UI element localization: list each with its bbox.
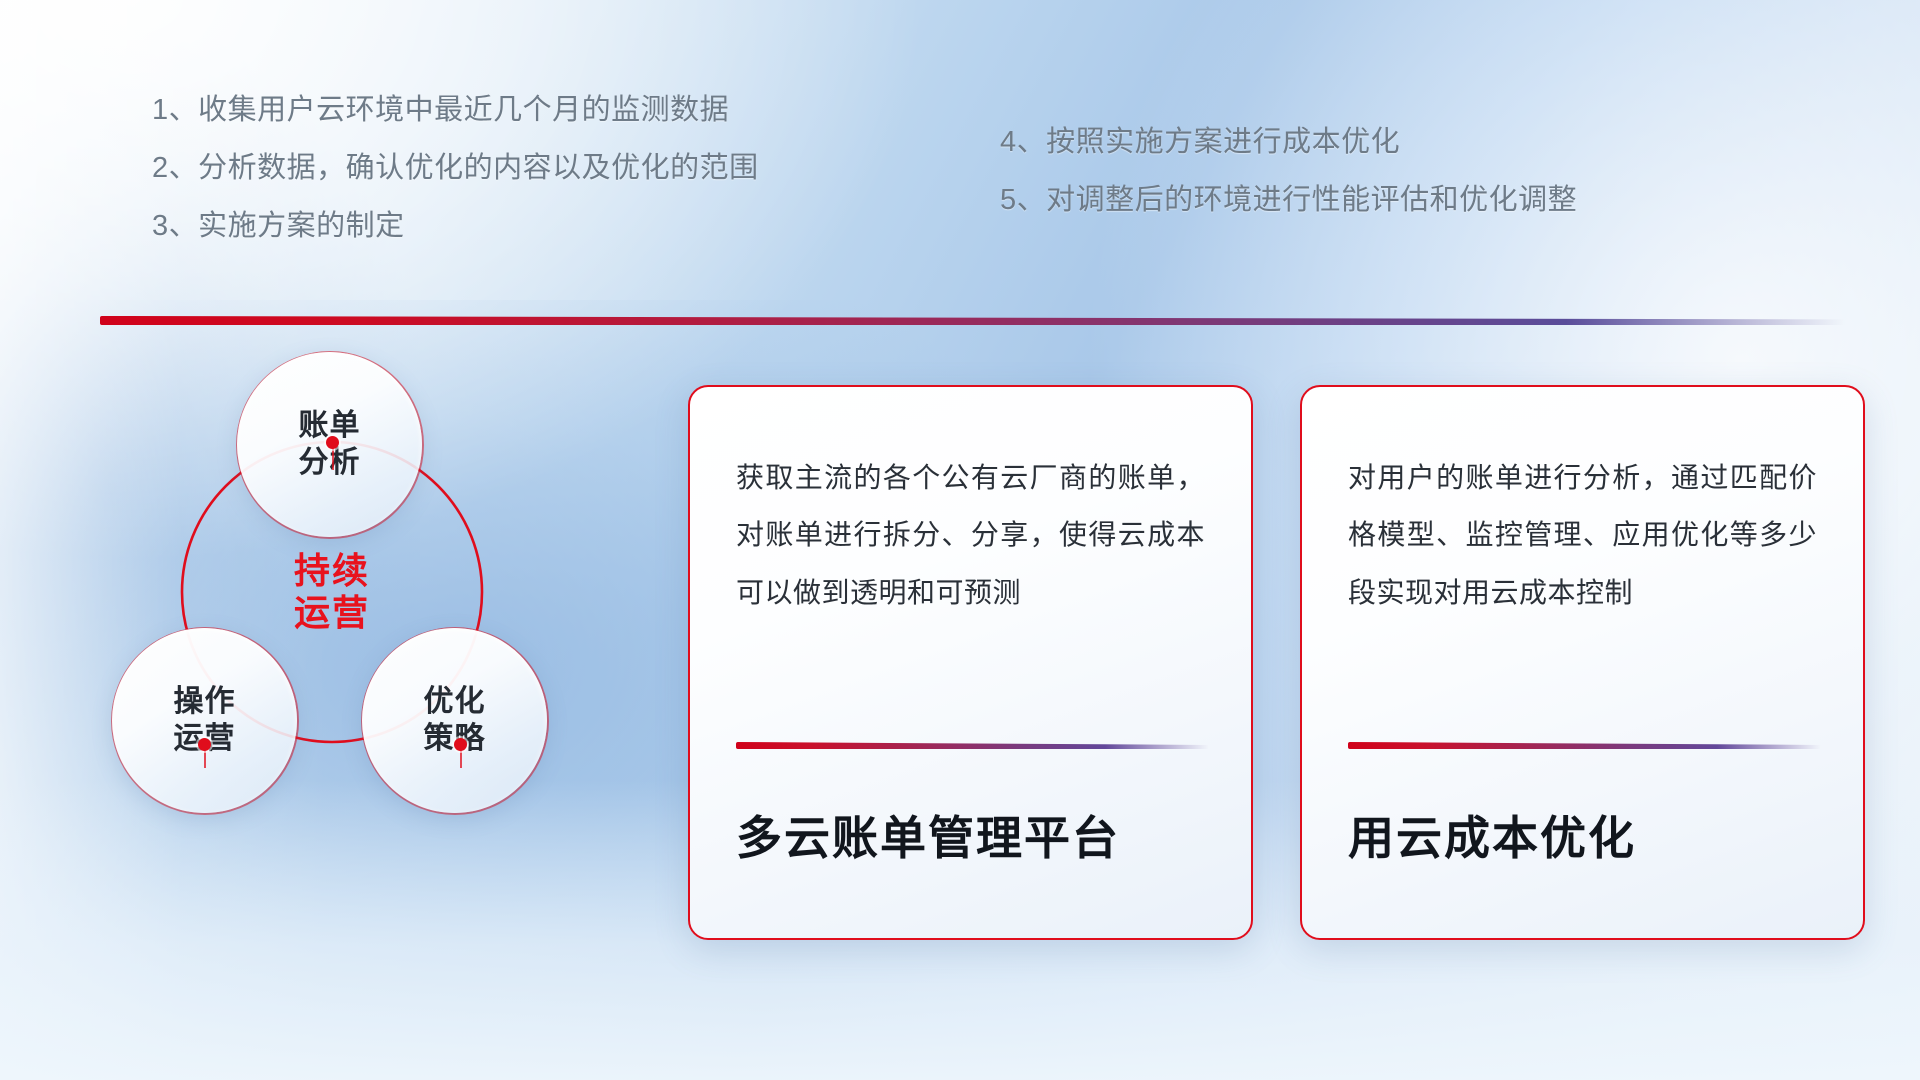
card-cloud-cost-optimization[interactable]: 对用户的账单进行分析，通过匹配价格模型、监控管理、应用优化等多少段实现对用云成本… xyxy=(1300,385,1865,940)
steps-right-column: 4、按照实施方案进行成本优化 5、对调整后的环境进行性能评估和优化调整 xyxy=(1000,128,1577,244)
step-item-3: 3、实施方案的制定 xyxy=(152,212,759,241)
card-multi-cloud-bill-platform-title: 多云账单管理平台 xyxy=(736,802,1209,868)
step-item-5: 5、对调整后的环境进行性能评估和优化调整 xyxy=(1000,186,1577,215)
step-item-1: 1、收集用户云环境中最近几个月的监测数据 xyxy=(152,96,759,125)
steps-left-column: 1、收集用户云环境中最近几个月的监测数据 2、分析数据，确认优化的内容以及优化的… xyxy=(152,96,759,270)
feature-cards: 获取主流的各个公有云厂商的账单，对账单进行拆分、分享，使得云成本可以做到透明和可… xyxy=(0,385,1920,945)
step-item-4: 4、按照实施方案进行成本优化 xyxy=(1000,128,1577,157)
process-steps-list: 1、收集用户云环境中最近几个月的监测数据 2、分析数据，确认优化的内容以及优化的… xyxy=(0,96,1920,256)
card-cloud-cost-optimization-body: 对用户的账单进行分析，通过匹配价格模型、监控管理、应用优化等多少段实现对用云成本… xyxy=(1348,449,1817,621)
card-multi-cloud-bill-platform-rule xyxy=(736,742,1209,749)
card-cloud-cost-optimization-title: 用云成本优化 xyxy=(1348,802,1821,868)
step-item-2: 2、分析数据，确认优化的内容以及优化的范围 xyxy=(152,154,759,183)
card-multi-cloud-bill-platform[interactable]: 获取主流的各个公有云厂商的账单，对账单进行拆分、分享，使得云成本可以做到透明和可… xyxy=(688,385,1253,940)
card-multi-cloud-bill-platform-body: 获取主流的各个公有云厂商的账单，对账单进行拆分、分享，使得云成本可以做到透明和可… xyxy=(736,449,1205,621)
card-cloud-cost-optimization-rule xyxy=(1348,742,1821,749)
